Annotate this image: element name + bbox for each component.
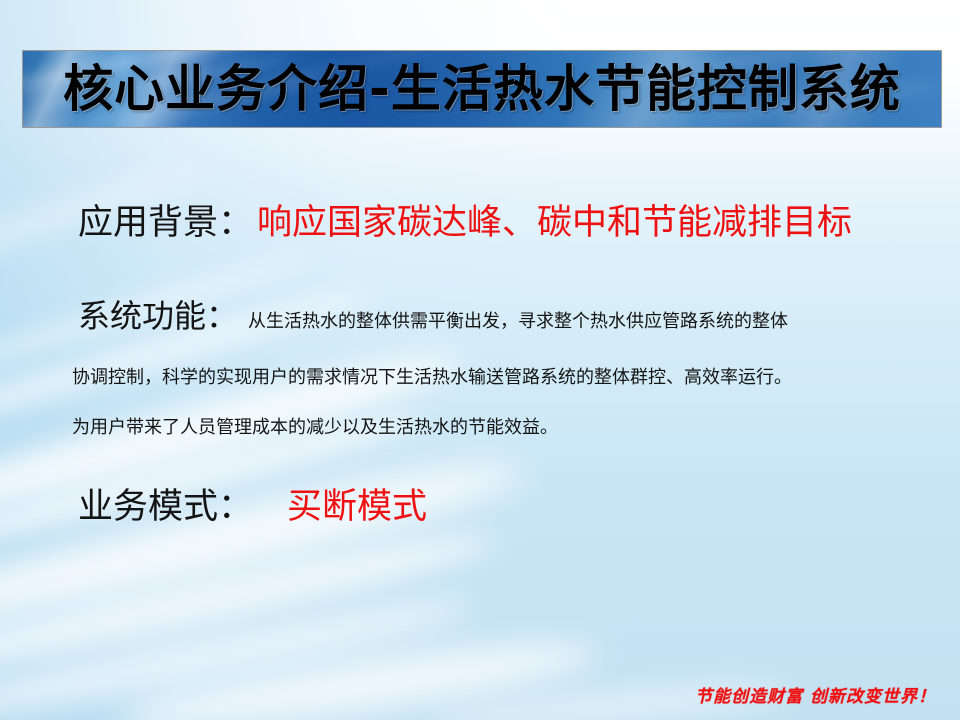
application-background-label: 应用背景：: [78, 206, 253, 241]
application-background-value: 响应国家碳达峰、碳中和节能减排目标: [257, 206, 852, 241]
slide-title: 核心业务介绍-生活热水节能控制系统: [63, 64, 901, 114]
business-model-value: 买断模式: [287, 490, 427, 525]
business-model-row: 业务模式： 买断模式: [78, 490, 427, 525]
system-function-row: 系统功能： 从生活热水的整体供需平衡出发，寻求整个热水供应管路系统的整体: [78, 300, 788, 332]
business-model-label: 业务模式：: [78, 490, 253, 525]
presentation-slide: 核心业务介绍-生活热水节能控制系统 应用背景： 响应国家碳达峰、碳中和节能减排目…: [0, 0, 960, 720]
footer-slogan: 节能创造财富 创新改变世界！: [695, 689, 936, 706]
system-function-line-3: 为用户带来了人员管理成本的减少以及生活热水的节能效益。: [72, 419, 558, 437]
application-background-row: 应用背景： 响应国家碳达峰、碳中和节能减排目标: [78, 206, 852, 241]
system-function-line-2: 协调控制，科学的实现用户的需求情况下生活热水输送管路系统的整体群控、高效率运行。: [72, 369, 792, 387]
slide-title-banner: 核心业务介绍-生活热水节能控制系统: [22, 50, 942, 128]
system-function-label: 系统功能：: [78, 300, 238, 332]
system-function-line-1: 从生活热水的整体供需平衡出发，寻求整个热水供应管路系统的整体: [248, 313, 788, 331]
